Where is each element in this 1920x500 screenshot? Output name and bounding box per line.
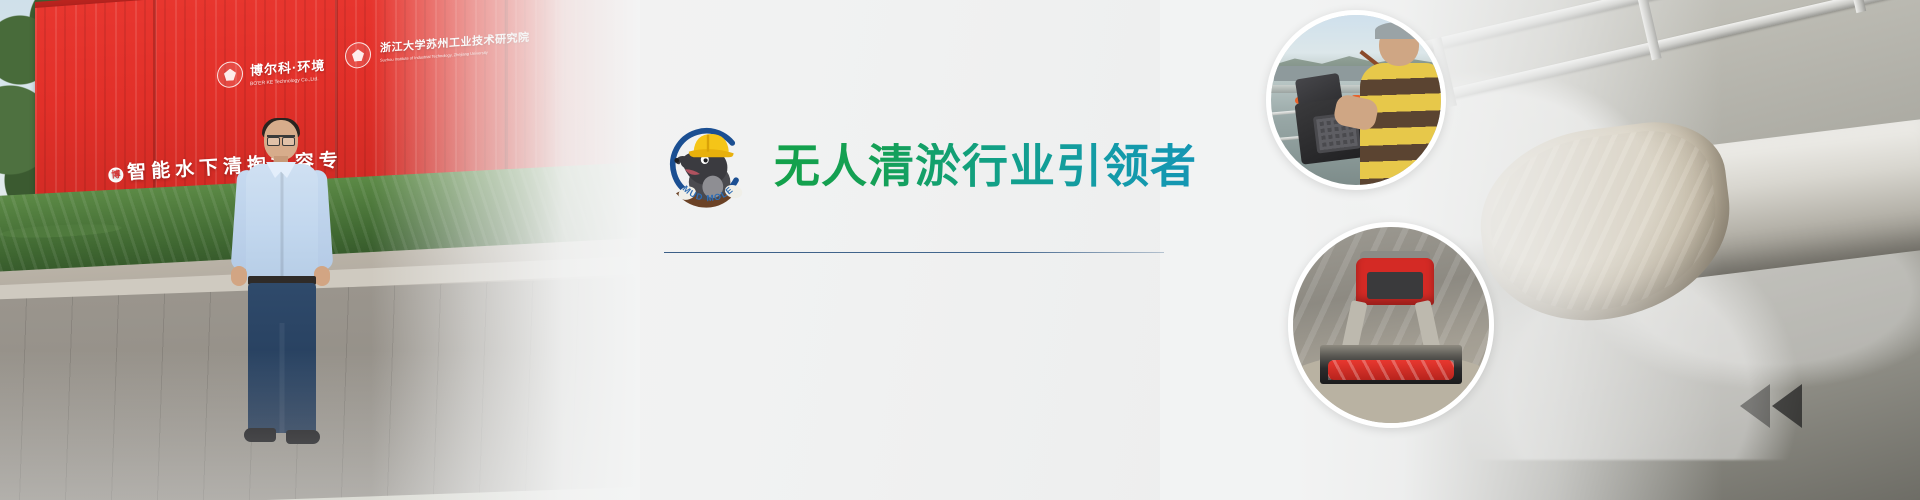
left-container-photo: 博尔科·环境 BO'ER KE Technology Co.,Ltd. 浙江大学…: [0, 0, 640, 500]
person-right-hand: [314, 266, 330, 286]
inset-photo-dredging-robot: [1288, 222, 1494, 428]
center-content: MUD MOLE 无人清淤行业引领者: [660, 0, 1220, 500]
person-trousers: [248, 283, 316, 433]
sludge-flow: [1470, 114, 1741, 333]
operator-figure: [1353, 22, 1446, 190]
slogan-badge-icon: 博: [108, 167, 124, 183]
mud-mole-logo[interactable]: MUD MOLE: [660, 118, 756, 214]
robot-red-frame: [1356, 258, 1434, 305]
headline-divider: [664, 252, 1164, 253]
logo-and-headline: MUD MOLE 无人清淤行业引领者: [660, 118, 1197, 214]
container-brand-primary: 博尔科·环境 BO'ER KE Technology Co.,Ltd.: [250, 55, 325, 88]
eyeglasses-icon: [267, 135, 295, 142]
brand-primary-text: 博尔科·环境: [250, 58, 325, 79]
direction-arrow-icon: [1772, 384, 1802, 428]
brand-emblem-icon: [217, 61, 243, 89]
person-shirt: [246, 164, 318, 282]
person-left-shoe: [244, 428, 276, 442]
robot-auger-screw: [1328, 360, 1453, 380]
person-standing: [228, 120, 338, 450]
person-left-hand: [231, 266, 247, 286]
inset-photo-operator: [1266, 10, 1446, 190]
container-seam: [505, 0, 508, 188]
page-headline: 无人清淤行业引领者: [774, 143, 1197, 189]
person-right-shoe: [286, 430, 320, 444]
direction-arrow-icon: [1740, 384, 1770, 428]
hero-banner: 博尔科·环境 BO'ER KE Technology Co.,Ltd. 浙江大学…: [0, 0, 1920, 500]
university-emblem-icon: [345, 41, 371, 69]
brand-primary-subtext: BO'ER KE Technology Co.,Ltd.: [250, 76, 325, 88]
operator-cap: [1375, 22, 1424, 39]
